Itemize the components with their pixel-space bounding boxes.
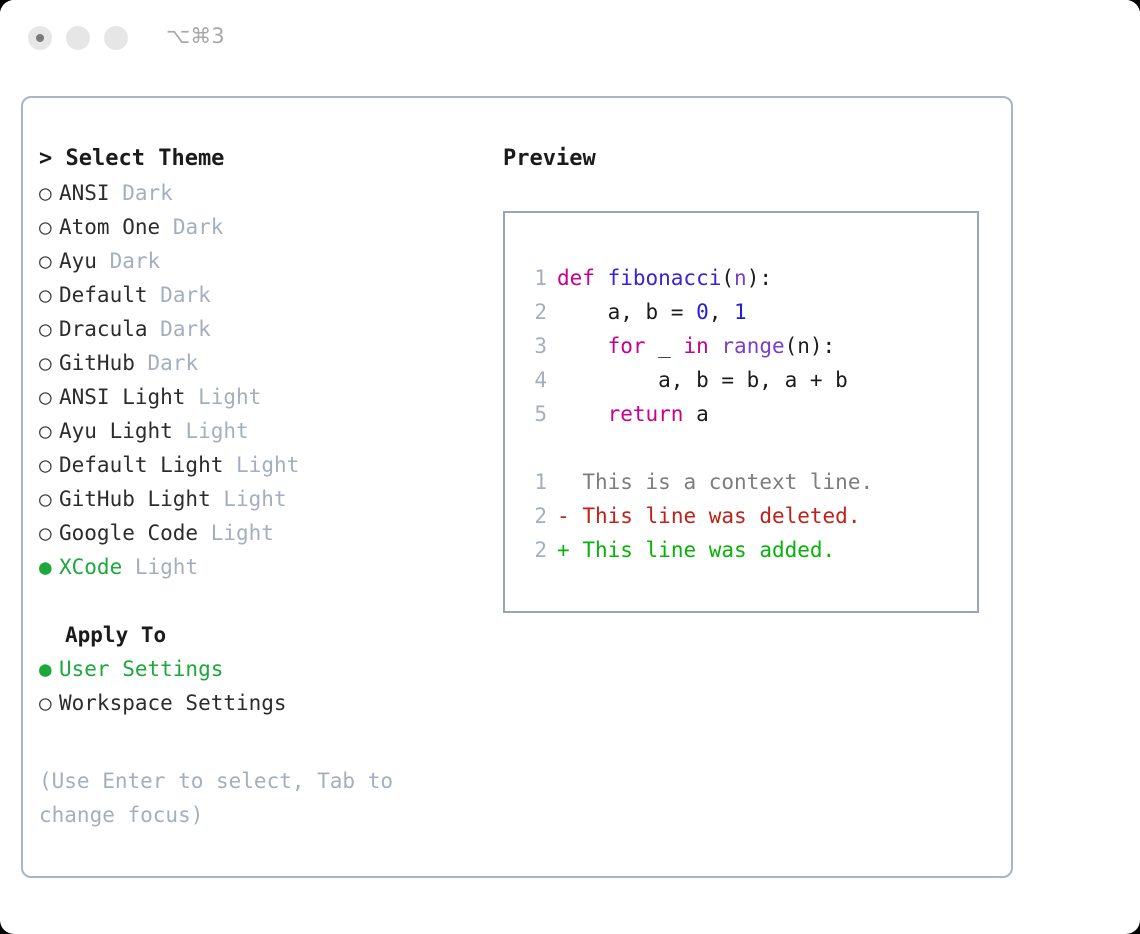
name-kind-separator: [97, 249, 110, 273]
code-token: [709, 334, 722, 358]
apply-to-label: User Settings: [59, 657, 223, 681]
apply-to-label: Workspace Settings: [59, 691, 287, 715]
theme-name: Google Code: [59, 521, 198, 545]
theme-list-item[interactable]: ○Ayu Light Light: [39, 414, 479, 448]
radio-unselected-icon: ○: [39, 414, 59, 448]
code-preview-content: 1def fibonacci(n):2 a, b = 0, 13 for _ i…: [519, 261, 971, 567]
code-line: 5 return a: [519, 397, 971, 431]
preview-column: Preview 1def fibonacci(n):2 a, b = 0, 13…: [503, 142, 993, 613]
code-token: ):: [747, 266, 772, 290]
code-token: 0: [696, 300, 709, 324]
code-token: for: [608, 334, 646, 358]
code-sample: 1def fibonacci(n):2 a, b = 0, 13 for _ i…: [519, 261, 971, 431]
radio-unselected-icon: ○: [39, 312, 59, 346]
theme-list-item[interactable]: ○Atom One Dark: [39, 210, 479, 244]
diff-sign: [557, 470, 570, 494]
radio-unselected-icon: ○: [39, 482, 59, 516]
name-kind-separator: [148, 317, 161, 341]
name-kind-separator: [198, 521, 211, 545]
theme-list-item[interactable]: ○Ayu Dark: [39, 244, 479, 278]
radio-selected-icon: ●: [39, 652, 59, 686]
name-kind-separator: [122, 555, 135, 579]
code-token: a: [683, 402, 708, 426]
theme-kind-label: Dark: [160, 283, 211, 307]
theme-list-item[interactable]: ○ANSI Light Light: [39, 380, 479, 414]
code-token: return: [608, 402, 684, 426]
radio-unselected-icon: ○: [39, 278, 59, 312]
name-kind-separator: [211, 487, 224, 511]
theme-name: GitHub: [59, 351, 135, 375]
code-line: 2 a, b = 0, 1: [519, 295, 971, 329]
code-token: def: [557, 266, 608, 290]
theme-name: XCode: [59, 555, 122, 579]
section-spacer: [39, 584, 479, 618]
theme-list[interactable]: ○ANSI Dark○Atom One Dark○Ayu Dark○Defaul…: [39, 176, 479, 584]
diff-sign: -: [557, 504, 570, 528]
theme-list-item[interactable]: ○Google Code Light: [39, 516, 479, 550]
theme-kind-label: Dark: [110, 249, 161, 273]
code-preview-box: 1def fibonacci(n):2 a, b = 0, 13 for _ i…: [503, 211, 979, 613]
window-control-maximize[interactable]: [104, 26, 128, 50]
code-token: [557, 334, 608, 358]
active-dot-indicator: [36, 34, 44, 42]
theme-kind-label: Light: [223, 487, 286, 511]
code-token: a, b =: [557, 300, 696, 324]
theme-name: Ayu: [59, 249, 97, 273]
code-token: (: [721, 266, 734, 290]
line-number: 1: [519, 261, 547, 295]
theme-kind-label: Light: [185, 419, 248, 443]
theme-kind-label: Light: [198, 385, 261, 409]
theme-kind-label: Dark: [173, 215, 224, 239]
preview-title: Preview: [503, 142, 993, 176]
diff-sign-gap: [570, 470, 583, 494]
theme-list-item[interactable]: ○GitHub Light Light: [39, 482, 479, 516]
code-diff-spacer: [519, 431, 971, 465]
line-number: 3: [519, 329, 547, 363]
line-number: 2: [519, 295, 547, 329]
title-bar: ⌥⌘3: [0, 0, 1140, 78]
theme-kind-label: Dark: [160, 317, 211, 341]
keyboard-hint-text: (Use Enter to select, Tab to change focu…: [39, 764, 459, 832]
code-token: in: [683, 334, 708, 358]
theme-kind-label: Light: [211, 521, 274, 545]
theme-kind-label: Light: [236, 453, 299, 477]
line-number: 5: [519, 397, 547, 431]
theme-list-item[interactable]: ●XCode Light: [39, 550, 479, 584]
radio-unselected-icon: ○: [39, 346, 59, 380]
theme-list-item[interactable]: ○GitHub Dark: [39, 346, 479, 380]
window-control-close[interactable]: [28, 26, 52, 50]
diff-text: This line was added.: [582, 538, 835, 562]
diff-sample: 1 This is a context line.2- This line wa…: [519, 465, 971, 567]
theme-list-item[interactable]: ○Dracula Dark: [39, 312, 479, 346]
line-number: 1: [519, 465, 547, 499]
select-theme-header: > Select Theme: [39, 142, 479, 176]
code-token: range: [721, 334, 784, 358]
code-token: a, b = b, a + b: [557, 368, 848, 392]
code-token: fibonacci: [608, 266, 722, 290]
line-number: 2: [519, 499, 547, 533]
code-line: 1def fibonacci(n):: [519, 261, 971, 295]
name-kind-separator: [160, 215, 173, 239]
window-controls: [28, 26, 128, 50]
window-control-minimize[interactable]: [66, 26, 90, 50]
main-panel: > Select Theme ○ANSI Dark○Atom One Dark○…: [21, 96, 1013, 878]
theme-name: Dracula: [59, 317, 148, 341]
name-kind-separator: [185, 385, 198, 409]
theme-name: ANSI Light: [59, 385, 185, 409]
apply-to-header: Apply To: [39, 618, 479, 652]
diff-line: 1 This is a context line.: [519, 465, 971, 499]
diff-sign-gap: [570, 504, 583, 528]
theme-name: Atom One: [59, 215, 160, 239]
diff-sign: +: [557, 538, 570, 562]
apply-to-list[interactable]: ●User Settings○Workspace Settings: [39, 652, 479, 720]
code-line: 4 a, b = b, a + b: [519, 363, 971, 397]
diff-line: 2- This line was deleted.: [519, 499, 971, 533]
keyboard-shortcut-label: ⌥⌘3: [166, 24, 225, 48]
diff-text: This is a context line.: [582, 470, 873, 494]
diff-sign-gap: [570, 538, 583, 562]
diff-text: This line was deleted.: [582, 504, 860, 528]
radio-unselected-icon: ○: [39, 686, 59, 720]
radio-unselected-icon: ○: [39, 244, 59, 278]
diff-line: 2+ This line was added.: [519, 533, 971, 567]
line-number: 4: [519, 363, 547, 397]
line-number: 2: [519, 533, 547, 567]
name-kind-separator: [148, 283, 161, 307]
theme-list-item[interactable]: ○ANSI Dark: [39, 176, 479, 210]
code-token: (n):: [785, 334, 836, 358]
radio-unselected-icon: ○: [39, 516, 59, 550]
code-token: 1: [734, 300, 747, 324]
theme-kind-label: Dark: [122, 181, 173, 205]
theme-name: Default: [59, 283, 148, 307]
theme-name: Default Light: [59, 453, 223, 477]
name-kind-separator: [173, 419, 186, 443]
apply-to-item[interactable]: ○Workspace Settings: [39, 686, 479, 720]
name-kind-separator: [110, 181, 123, 205]
radio-selected-icon: ●: [39, 550, 59, 584]
theme-selector-column: > Select Theme ○ANSI Dark○Atom One Dark○…: [39, 142, 479, 720]
code-token: ,: [709, 300, 734, 324]
radio-unselected-icon: ○: [39, 210, 59, 244]
theme-list-item[interactable]: ○Default Dark: [39, 278, 479, 312]
theme-list-item[interactable]: ○Default Light Light: [39, 448, 479, 482]
theme-kind-label: Light: [135, 555, 198, 579]
code-token: [557, 402, 608, 426]
app-window: ⌥⌘3 > Select Theme ○ANSI Dark○Atom One D…: [0, 0, 1140, 934]
apply-to-item[interactable]: ●User Settings: [39, 652, 479, 686]
code-token: _: [646, 334, 684, 358]
radio-unselected-icon: ○: [39, 448, 59, 482]
theme-name: Ayu Light: [59, 419, 173, 443]
theme-name: GitHub Light: [59, 487, 211, 511]
theme-kind-label: Dark: [148, 351, 199, 375]
name-kind-separator: [135, 351, 148, 375]
name-kind-separator: [223, 453, 236, 477]
radio-unselected-icon: ○: [39, 380, 59, 414]
theme-name: ANSI: [59, 181, 110, 205]
code-line: 3 for _ in range(n):: [519, 329, 971, 363]
code-token: n: [734, 266, 747, 290]
radio-unselected-icon: ○: [39, 176, 59, 210]
